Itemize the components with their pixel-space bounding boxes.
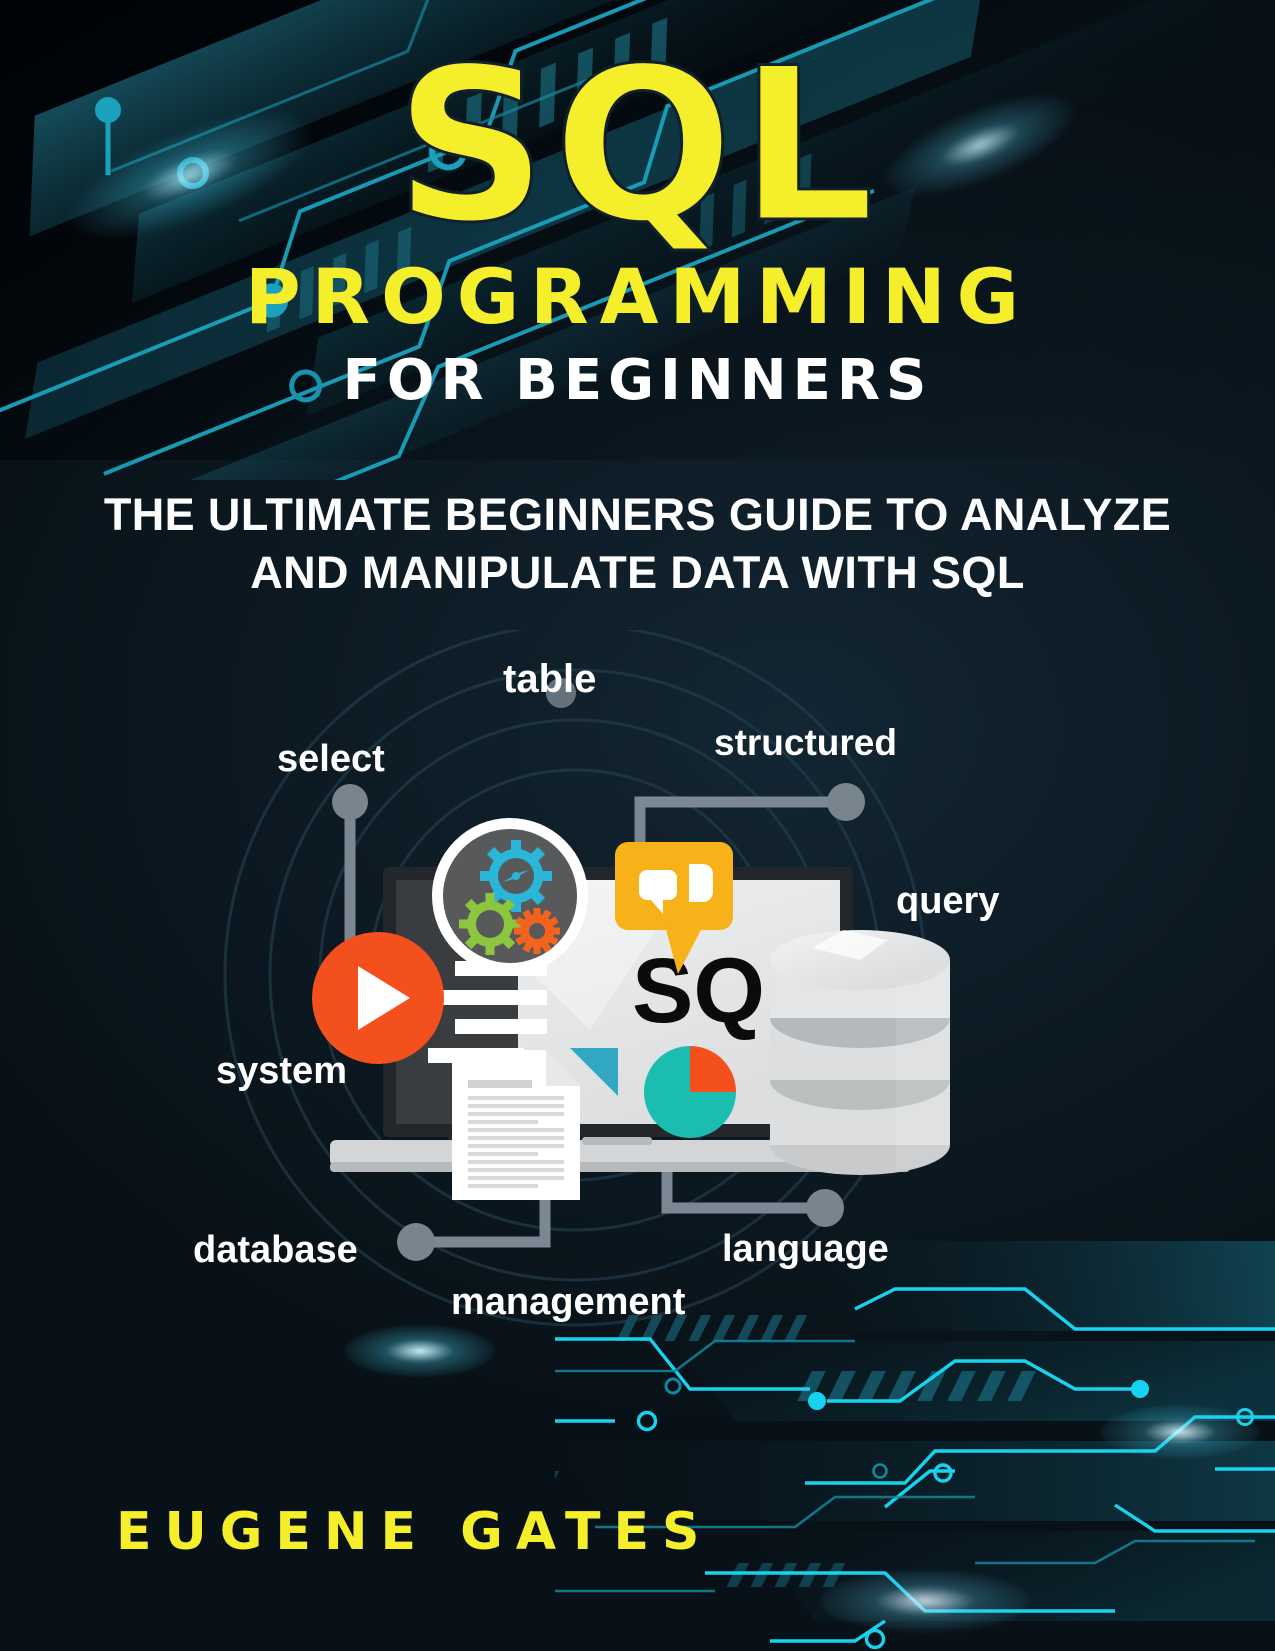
- keyword-structured: structured: [714, 722, 897, 764]
- keyword-query: query: [896, 880, 999, 923]
- title-main-text: SQL: [395, 22, 881, 269]
- subtitle-line-2: AND MANIPULATE DATA WITH SQL: [70, 544, 1205, 602]
- document-icon: [452, 1050, 580, 1200]
- title-main: SQL SQL: [0, 48, 1275, 243]
- play-button-icon: [312, 932, 444, 1064]
- author-name: EUGENE GATES: [116, 1502, 712, 1562]
- book-cover: SQL SQL PROGRAMMING FOR BEGINNERS THE UL…: [0, 0, 1275, 1651]
- keyword-database: database: [193, 1229, 358, 1272]
- gear-green-icon: [459, 893, 521, 955]
- subtitle-line-1: THE ULTIMATE BEGINNERS GUIDE TO ANALYZE: [70, 486, 1205, 544]
- keyword-select: select: [277, 738, 385, 781]
- pie-chart-icon: [644, 1046, 736, 1138]
- keyword-system: system: [216, 1050, 347, 1093]
- database-stack-icon: [770, 930, 950, 1175]
- subtitle: THE ULTIMATE BEGINNERS GUIDE TO ANALYZE …: [70, 486, 1205, 601]
- title-line2: PROGRAMMING: [0, 252, 1275, 341]
- keyword-management: management: [451, 1281, 685, 1324]
- title-line3: FOR BEGINNERS: [0, 348, 1275, 413]
- sql-illustration: SQL: [170, 630, 1070, 1330]
- keyword-table: table: [503, 657, 596, 702]
- keyword-language: language: [722, 1228, 889, 1271]
- gears-icon: [432, 818, 588, 974]
